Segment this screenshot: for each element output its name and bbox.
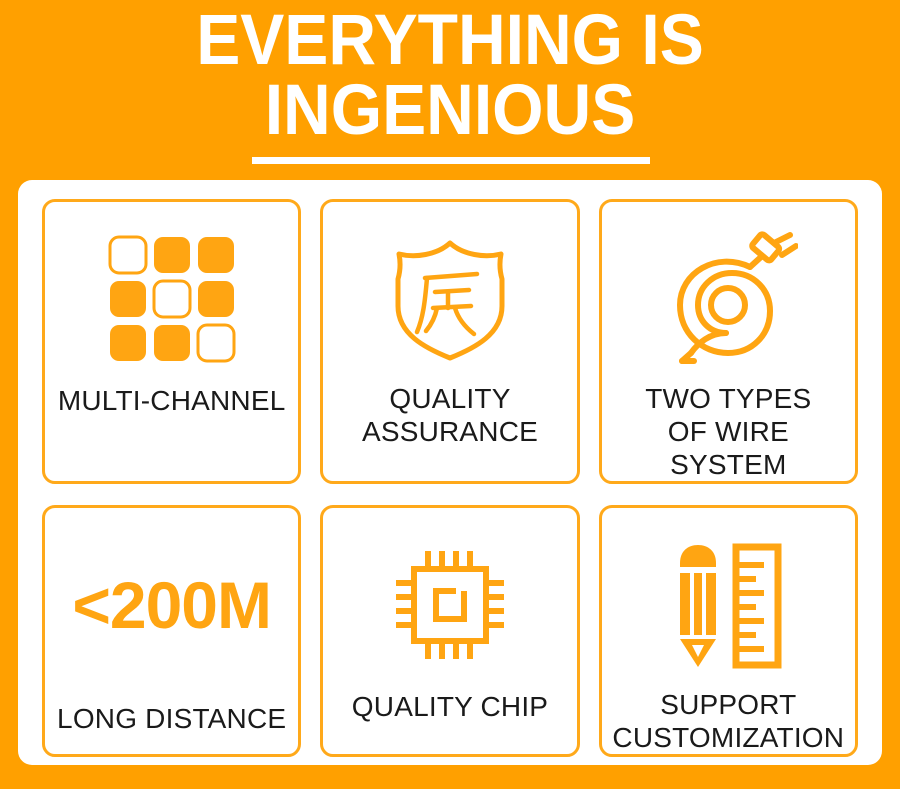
feature-card-long-distance[interactable]: <200M LONG DISTANCE [42,505,301,757]
feature-card-label: QUALITY CHIP [323,690,576,723]
feature-card-label: SUPPORT CUSTOMIZATION [602,688,855,754]
shield-quality-icon [385,224,515,374]
feature-card-label: QUALITY ASSURANCE [323,382,576,448]
feature-card-support-customization[interactable]: SUPPORT CUSTOMIZATION [599,505,858,757]
page-title-line-2: INGENIOUS [32,76,869,146]
features-panel: MULTI-CHANNEL [18,180,882,765]
stat-value: <200M [72,530,271,680]
page-title: EVERYTHING IS INGENIOUS [32,0,869,146]
feature-card-label: TWO TYPES OF WIRE SYSTEM [602,382,855,481]
pencil-ruler-icon [672,530,784,680]
poster-header: EVERYTHING IS INGENIOUS [0,0,900,180]
poster-root: EVERYTHING IS INGENIOUS [0,0,900,789]
feature-card-two-types-of-wire-system[interactable]: TWO TYPES OF WIRE SYSTEM [599,199,858,484]
feature-card-quality-chip[interactable]: QUALITY CHIP [320,505,579,757]
title-underline-rule [252,157,650,164]
coiled-cable-plug-icon [658,224,798,374]
feature-card-label: LONG DISTANCE [45,702,298,735]
feature-card-multi-channel[interactable]: MULTI-CHANNEL [42,199,301,484]
grid-squares-icon [106,224,238,374]
microchip-icon [386,530,514,680]
features-grid: MULTI-CHANNEL [42,199,858,745]
page-title-line-1: EVERYTHING IS [32,6,869,76]
feature-card-quality-assurance[interactable]: QUALITY ASSURANCE [320,199,579,484]
feature-card-label: MULTI-CHANNEL [45,384,298,417]
